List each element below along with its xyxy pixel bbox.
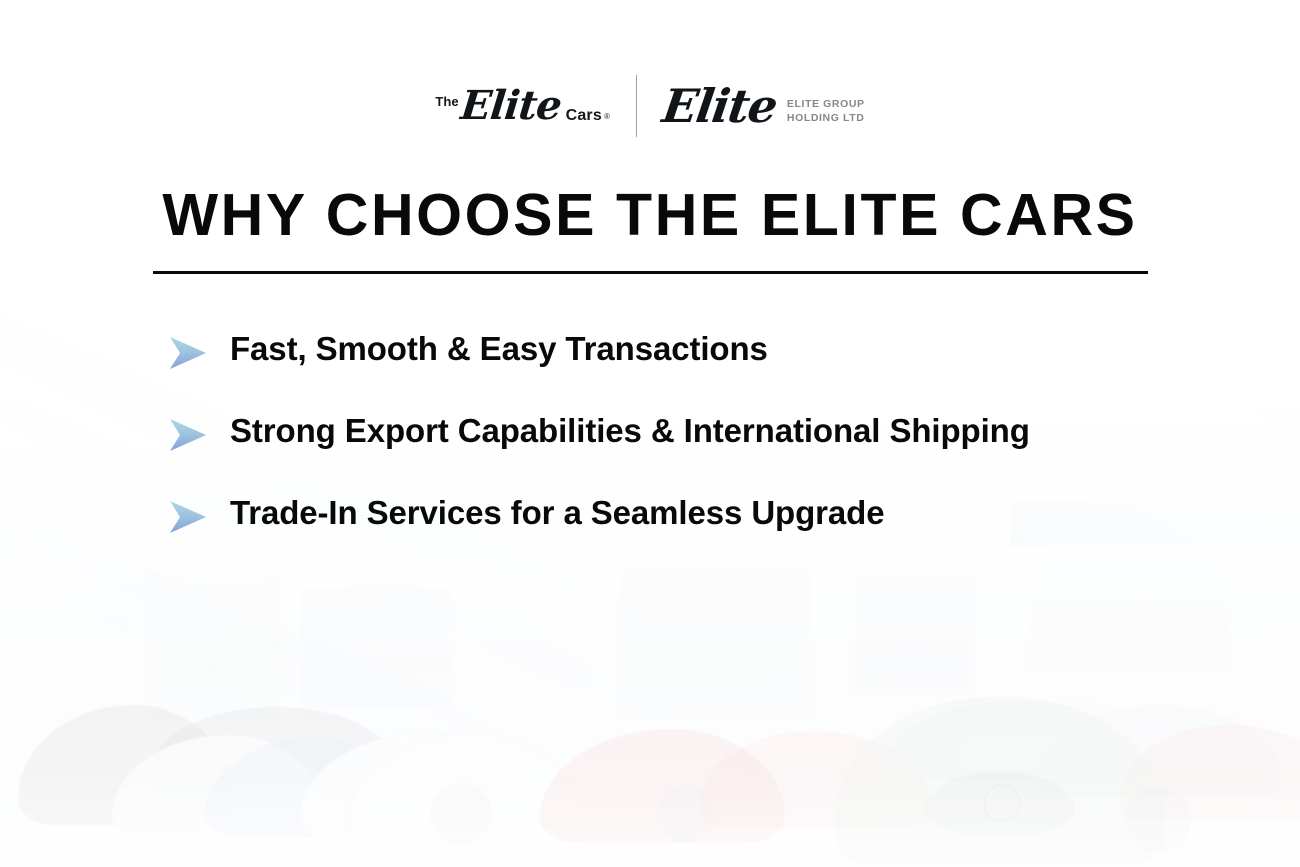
logo-divider: [636, 75, 637, 137]
list-item-label: Strong Export Capabilities & Internation…: [230, 410, 1030, 452]
list-item: Fast, Smooth & Easy Transactions: [168, 328, 1168, 370]
logo-cars-text: Cars: [566, 107, 602, 125]
elite-group-holding-logo: Elite ELITE GROUP HOLDING LTD: [663, 83, 865, 129]
logo-the-text: The: [435, 94, 458, 109]
list-item-label: Trade-In Services for a Seamless Upgrade: [230, 492, 884, 534]
registered-trademark-icon: ®: [604, 112, 610, 121]
list-item: Strong Export Capabilities & Internation…: [168, 410, 1168, 452]
logo-bar: The Elite Cars ® Elite ELITE GROUP HOLDI…: [0, 70, 1300, 142]
list-item: Trade-In Services for a Seamless Upgrade: [168, 492, 1168, 534]
arrow-bullet-icon: [168, 500, 208, 534]
logo-elite-script: Elite: [459, 86, 563, 126]
logo-company-name: ELITE GROUP HOLDING LTD: [787, 98, 865, 126]
page-title: WHY CHOOSE THE ELITE CARS: [0, 186, 1300, 245]
benefits-list: Fast, Smooth & Easy Transactions: [168, 328, 1168, 535]
arrow-bullet-icon: [168, 418, 208, 452]
slide-root: The Elite Cars ® Elite ELITE GROUP HOLDI…: [0, 0, 1300, 867]
logo-elite-script: Elite: [660, 83, 779, 129]
arrow-bullet-icon: [168, 336, 208, 370]
title-underline-rule: [153, 271, 1148, 274]
the-elite-cars-logo: The Elite Cars ®: [435, 86, 610, 126]
list-item-label: Fast, Smooth & Easy Transactions: [230, 328, 768, 370]
